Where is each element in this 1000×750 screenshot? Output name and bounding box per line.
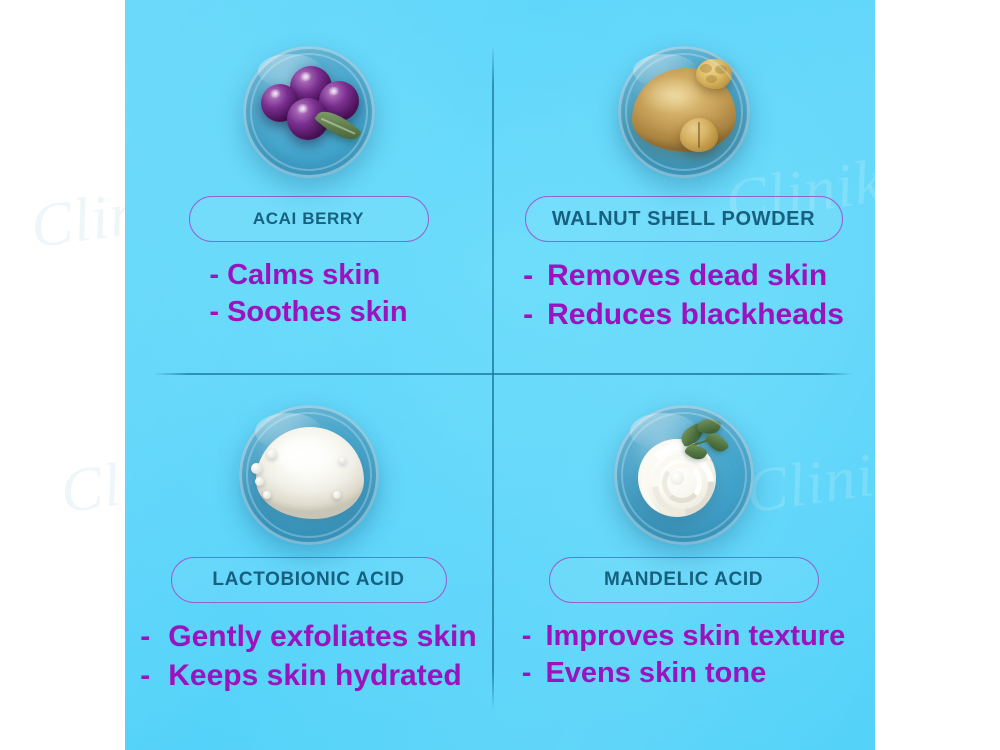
benefit-item: - Improves skin texture [522, 619, 845, 654]
benefit-item: - Reduces blackheads [523, 297, 844, 334]
benefit-text: Removes dead skin [547, 258, 827, 295]
benefit-dash: - [140, 658, 150, 695]
ingredients-panel: Clinikally Clinikally ACAI BERRY [125, 0, 875, 750]
benefit-dash: - [523, 258, 533, 295]
quadrant-grid: ACAI BERRY - Calms skin - Soothes skin [125, 0, 875, 750]
quadrant-acai-berry: ACAI BERRY - Calms skin - Soothes skin [125, 0, 492, 373]
acai-berry-petri-dish [243, 46, 375, 178]
benefit-text: Gently exfoliates skin [168, 619, 476, 656]
benefit-dash: - [523, 297, 533, 334]
benefit-item: - Evens skin tone [522, 656, 845, 691]
benefit-text: Evens skin tone [545, 656, 766, 691]
benefit-text: Calms skin [227, 258, 380, 293]
benefit-item: - Calms skin [209, 258, 407, 293]
quadrant-lactobionic-acid: LACTOBIONIC ACID - Gently exfoliates ski… [125, 373, 492, 750]
mandelic-acid-cream-petri-dish [614, 405, 754, 545]
quadrant-walnut-shell-powder: WALNUT SHELL POWDER - Removes dead skin … [492, 0, 875, 373]
walnut-shell-powder-petri-dish [618, 46, 750, 178]
benefit-text: Soothes skin [227, 295, 408, 330]
benefit-item: - Removes dead skin [523, 258, 844, 295]
ingredient-label-walnut-shell-powder[interactable]: WALNUT SHELL POWDER [525, 196, 843, 242]
benefit-text: Reduces blackheads [547, 297, 844, 334]
infographic-canvas: Clinikally Clinikally Clinikally Clinika… [0, 0, 1000, 750]
benefits-mandelic-acid: - Improves skin texture - Evens skin ton… [522, 619, 845, 692]
quadrant-mandelic-acid: MANDELIC ACID - Improves skin texture - … [492, 373, 875, 750]
benefit-dash: - [522, 656, 532, 691]
benefit-dash: - [209, 295, 219, 330]
ingredient-label-acai-berry[interactable]: ACAI BERRY [189, 196, 429, 242]
benefit-dash: - [209, 258, 219, 293]
lactobionic-acid-powder-petri-dish [239, 405, 379, 545]
benefit-item: - Gently exfoliates skin [140, 619, 476, 656]
benefit-dash: - [140, 619, 150, 656]
benefits-lactobionic-acid: - Gently exfoliates skin - Keeps skin hy… [140, 619, 476, 694]
benefit-item: - Keeps skin hydrated [140, 658, 476, 695]
benefits-walnut-shell-powder: - Removes dead skin - Reduces blackheads [523, 258, 844, 333]
ingredient-label-lactobionic-acid[interactable]: LACTOBIONIC ACID [171, 557, 447, 603]
benefit-text: Keeps skin hydrated [168, 658, 461, 695]
benefit-item: - Soothes skin [209, 295, 407, 330]
benefit-dash: - [522, 619, 532, 654]
ingredient-label-mandelic-acid[interactable]: MANDELIC ACID [549, 557, 819, 603]
benefits-acai-berry: - Calms skin - Soothes skin [209, 258, 407, 331]
benefit-text: Improves skin texture [545, 619, 845, 654]
